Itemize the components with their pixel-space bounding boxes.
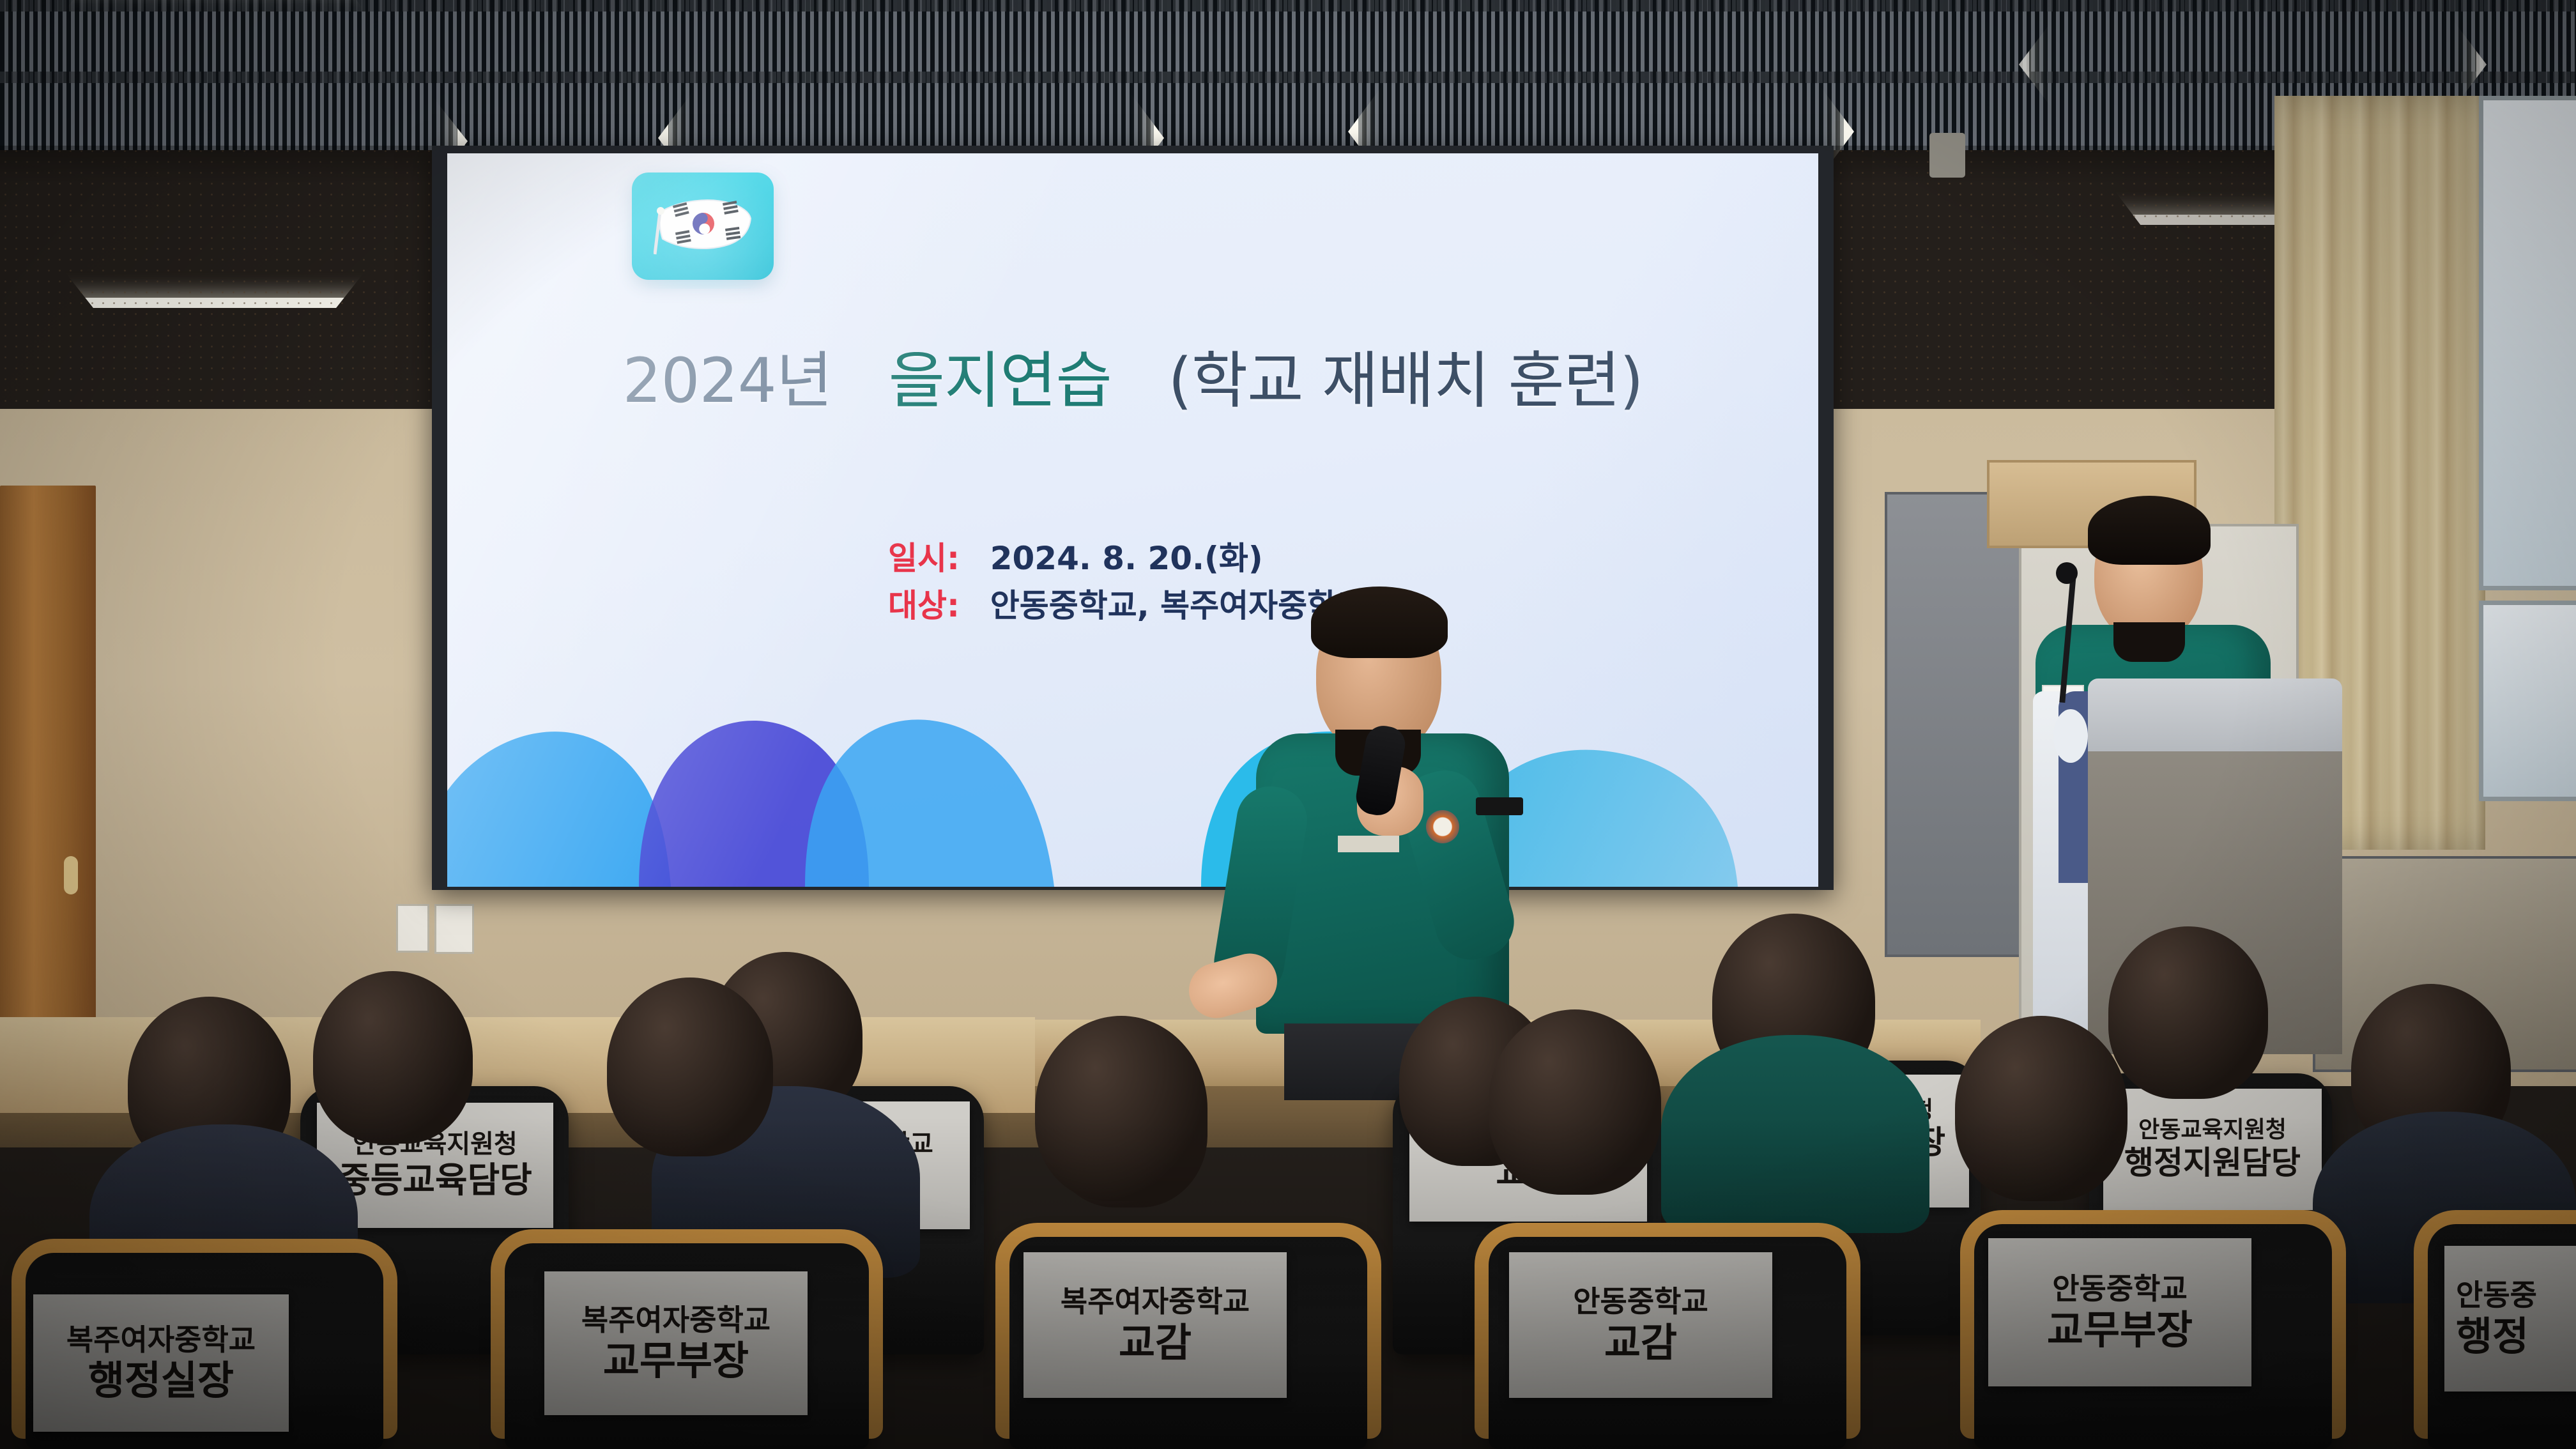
window-lower bbox=[2479, 601, 2576, 801]
wall-cabinet bbox=[1885, 492, 2030, 957]
placard-role: 행정지원담당 bbox=[2124, 1144, 2301, 1182]
placard-org: 복주여자중학교 bbox=[66, 1322, 256, 1357]
lectern-top bbox=[2088, 678, 2342, 756]
placard-role: 행정 bbox=[2456, 1313, 2529, 1360]
slide-meta-key-target: 대상: bbox=[888, 587, 960, 624]
placard-org: 안동교육지원청 bbox=[2138, 1117, 2287, 1144]
korean-flag-icon bbox=[632, 172, 774, 280]
window bbox=[2479, 96, 2576, 590]
slide-title-paren: (학교 재배치 훈련) bbox=[1168, 345, 1643, 417]
placard-front-6: 안동중 행정 bbox=[2444, 1246, 2576, 1391]
auditorium-photo: 2024년 을지연습 (학교 재배치 훈련) 일시: 2024. 8. 20.(… bbox=[0, 0, 2576, 1449]
slide-title: 2024년 을지연습 (학교 재배치 훈련) bbox=[447, 331, 1818, 420]
placard-front-4: 안동중학교 교감 bbox=[1509, 1252, 1772, 1398]
placard-role: 행정실장 bbox=[88, 1357, 234, 1404]
slide-meta-row-date: 일시: 2024. 8. 20.(화) bbox=[888, 537, 1366, 580]
placard-role: 교감 bbox=[1604, 1319, 1677, 1366]
placard-role: 교감 bbox=[1119, 1319, 1192, 1366]
uniform-shoulder-tape bbox=[1476, 797, 1523, 815]
attendee-head bbox=[1489, 1009, 1661, 1195]
lectern-knob-icon bbox=[2053, 709, 2088, 763]
slide-title-main: 을지연습 bbox=[889, 345, 1112, 417]
placard-org: 안동중학교 bbox=[2052, 1271, 2188, 1306]
attendee-head bbox=[313, 971, 473, 1144]
placard-front-3: 복주여자중학교 교감 bbox=[1023, 1252, 1287, 1398]
attendee-head bbox=[1955, 1016, 2127, 1201]
placard-front-2: 복주여자중학교 교무부장 bbox=[544, 1271, 808, 1415]
attendee-shoulders bbox=[1661, 1035, 1929, 1233]
slide-title-year: 2024년 bbox=[622, 345, 832, 417]
attendee-head bbox=[1035, 1016, 1207, 1201]
attendee-head bbox=[2108, 926, 2268, 1099]
slide-decoration-hills bbox=[447, 676, 1818, 887]
placard-role: 교무부장 bbox=[603, 1337, 749, 1384]
placard-org: 복주여자중학교 bbox=[581, 1303, 770, 1337]
uniform-emblem-badge bbox=[1426, 810, 1459, 843]
lectern-microphone-head-icon bbox=[2056, 562, 2078, 584]
wall-outlet-plate[interactable] bbox=[434, 904, 474, 954]
placard-back-5: 안동교육지원청 행정지원담당 bbox=[2103, 1089, 2322, 1210]
placard-org: 안동중학교 bbox=[1573, 1284, 1708, 1319]
placard-front-1: 복주여자중학교 행정실장 bbox=[33, 1294, 289, 1432]
door-handle-icon bbox=[64, 856, 78, 894]
placard-front-5: 안동중학교 교무부장 bbox=[1988, 1238, 2251, 1386]
placard-role: 교무부장 bbox=[2047, 1307, 2193, 1353]
side-door[interactable] bbox=[0, 486, 96, 1035]
placard-org: 복주여자중학교 bbox=[1061, 1284, 1250, 1319]
slide-meta-key-date: 일시: bbox=[888, 540, 960, 577]
placard-org: 안동중 bbox=[2456, 1278, 2537, 1312]
wall-switch-plate[interactable] bbox=[396, 904, 429, 953]
placard-role: 중등교육담당 bbox=[338, 1160, 532, 1201]
speaker-box-icon bbox=[1929, 133, 1965, 178]
slide-meta-value-date: 2024. 8. 20.(화) bbox=[990, 540, 1263, 577]
attendee-head bbox=[607, 977, 773, 1156]
projection-screen: 2024년 을지연습 (학교 재배치 훈련) 일시: 2024. 8. 20.(… bbox=[447, 153, 1818, 887]
uniform-name-tag bbox=[1338, 836, 1399, 852]
